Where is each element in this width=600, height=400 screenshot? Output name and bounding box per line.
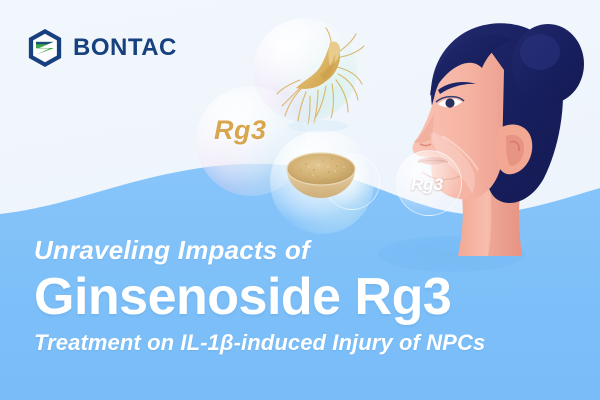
headline-block: Unraveling Impacts of Ginsenoside Rg3 Tr… — [34, 236, 485, 355]
rg3-cheek-bubble: Rg3 — [396, 150, 462, 216]
rg3-floating-label: Rg3 — [214, 115, 267, 146]
bontac-hexagon-logo-icon — [26, 28, 64, 68]
brand-logo[interactable]: BONTAC — [26, 28, 177, 68]
ginseng-powder-bowl-icon — [282, 146, 360, 206]
rg3-cheek-label: Rg3 — [411, 175, 443, 195]
ginseng-root-icon — [274, 22, 370, 138]
headline-line-2: Ginsenoside Rg3 — [34, 271, 485, 324]
brand-name: BONTAC — [73, 36, 177, 60]
promotional-banner: BONTAC — [0, 0, 600, 400]
headline-line-3: Treatment on IL-1β-induced Injury of NPC… — [34, 331, 485, 355]
headline-line-1: Unraveling Impacts of — [34, 236, 485, 265]
